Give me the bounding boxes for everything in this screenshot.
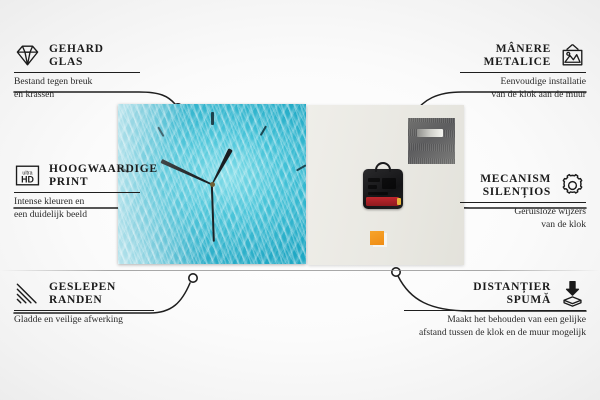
feature-desc-line1: Bestand tegen breuk [14, 76, 140, 89]
feature-title-line1: GEHARD [49, 43, 104, 56]
feature-title-line1: MECANISM [480, 173, 551, 186]
feature-title-line2: GLAS [49, 56, 104, 69]
feature-title-line1: MÂNERE [484, 43, 551, 56]
feature-title-line2: SILENȚIOS [480, 186, 551, 199]
feature-title-line1: GESLEPEN [49, 281, 116, 294]
battery [366, 197, 399, 206]
feature-desc-line1: Geruisloze wijzers [460, 206, 586, 219]
feature-title-line2: RANDEN [49, 294, 116, 307]
clock-back-panel [308, 105, 464, 265]
beveled-edge-icon [14, 280, 41, 307]
feature-desc-line1: Maakt het behouden van een gelijke [404, 314, 586, 327]
feature-desc-line1: Gladde en veilige afwerking [14, 314, 154, 327]
feature-title-line2: PRINT [49, 176, 158, 189]
feature-mecanism-silentios: MECANISM SILENȚIOS Geruisloze wijzers va… [460, 172, 586, 231]
spacer-arrow-icon [559, 280, 586, 307]
gear-icon [559, 172, 586, 199]
feature-desc-line1: Intense kleuren en [14, 196, 140, 209]
feature-title-line2: SPUMĂ [404, 294, 551, 307]
feature-desc-line2: en krassen [14, 89, 140, 102]
node-geslepen-randen [189, 274, 197, 282]
feature-gehard-glas: GEHARD GLAS Bestand tegen breuk en krass… [14, 42, 140, 101]
feature-desc-line2: van de klok aan de muur [460, 89, 586, 102]
feature-desc-line2: van de klok [460, 219, 586, 232]
feature-title-line2: METALICE [484, 56, 551, 69]
feature-geslepen-randen: GESLEPEN RANDEN Gladde en veilige afwerk… [14, 280, 154, 327]
picture-hanging-icon [559, 42, 586, 69]
feature-desc-line1: Eenvoudige installatie [460, 76, 586, 89]
foam-spacer [370, 231, 384, 245]
feature-distantier-spuma: DISTANȚIER SPUMĂ Maakt het behouden van … [404, 280, 586, 339]
feature-title-line1: DISTANȚIER [404, 281, 551, 294]
feature-desc-line2: een duidelijk beeld [14, 209, 140, 222]
ultra-hd-icon-bottom: HD [21, 174, 34, 184]
clock-hour-hand [210, 148, 233, 186]
surface-line [0, 270, 600, 271]
feature-manere-metalice: MÂNERE METALICE Eenvoudige installatie v… [460, 42, 586, 101]
feature-desc-line2: afstand tussen de klok en de muur mogeli… [404, 327, 586, 340]
feature-title-line1: HOOGWAARDIGE [49, 163, 158, 176]
hanger-hook-icon [375, 162, 391, 172]
infographic-canvas: GEHARD GLAS Bestand tegen breuk en krass… [0, 0, 600, 400]
feature-hoogwaardige-print: ultra HD HOOGWAARDIGE PRINT Intense kleu… [14, 162, 140, 221]
clock-minute-hand [160, 158, 213, 186]
clock-second-hand [211, 184, 215, 242]
diamond-icon [14, 42, 41, 69]
metal-hanger-plate [408, 118, 455, 164]
ultra-hd-icon: ultra HD [14, 162, 41, 189]
clock-center-pin [210, 182, 215, 187]
product-photo [118, 104, 464, 272]
clock-mechanism [363, 169, 403, 209]
